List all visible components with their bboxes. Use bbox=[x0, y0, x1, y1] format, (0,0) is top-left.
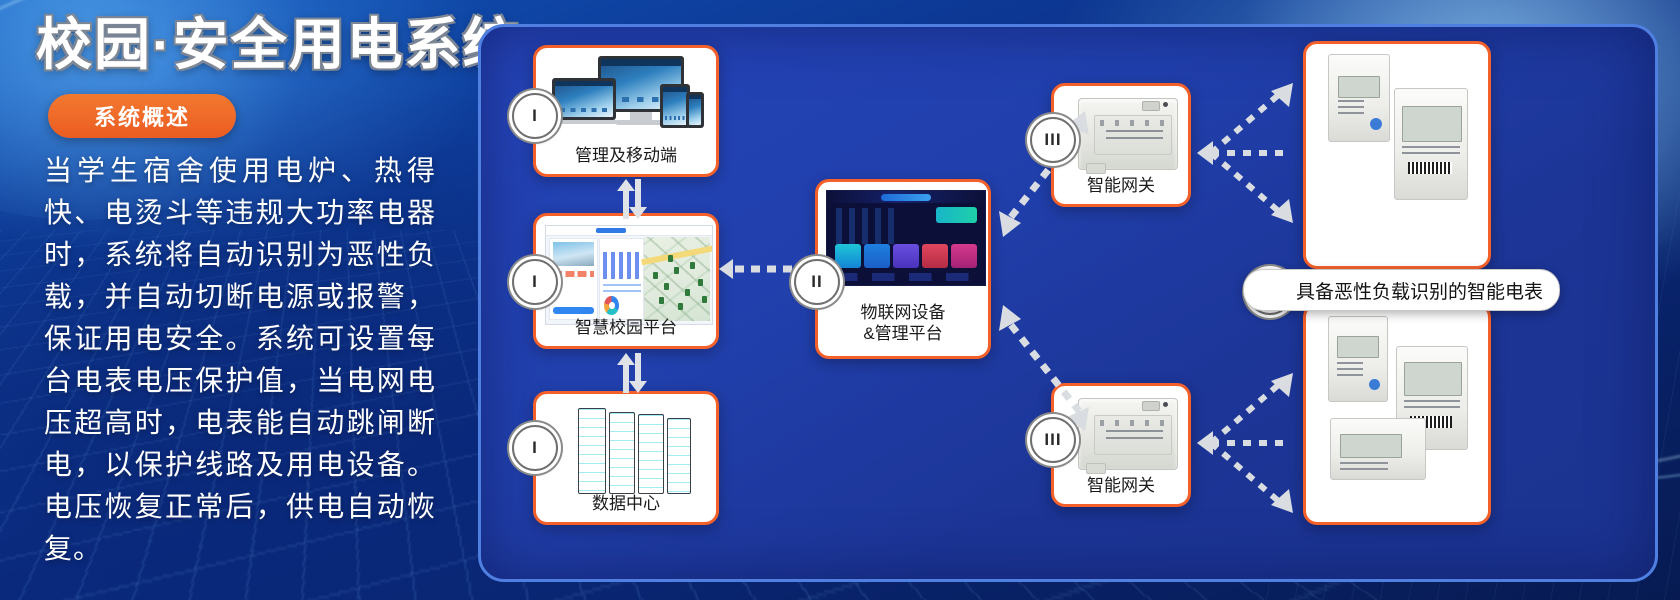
badge-roman-3: I bbox=[512, 425, 558, 471]
panel-meters-top[interactable] bbox=[1303, 41, 1491, 269]
arrow-campus-datacenter bbox=[615, 353, 649, 393]
poster-canvas: 校园·安全用电系统 系统概述 当学生宿舍使用电炉、热得快、电烫斗等违规大功率电器… bbox=[0, 0, 1680, 600]
iot-dashboard-icon bbox=[826, 190, 986, 286]
overview-paragraph: 当学生宿舍使用电炉、热得快、电烫斗等违规大功率电器时，系统将自动识别为恶性负载，… bbox=[44, 150, 436, 570]
arrow-gateway-bottom-meters bbox=[1197, 357, 1305, 527]
diagram-container: 管理及移动端 I bbox=[478, 24, 1658, 582]
server-rack-icon bbox=[578, 410, 691, 494]
dashboard-map-icon bbox=[545, 225, 713, 325]
meter-type-text: 具备恶性负载识别的智能电表 bbox=[1296, 277, 1543, 304]
node-label-line2: &管理平台 bbox=[818, 323, 988, 344]
arrow-mgmt-campus bbox=[615, 179, 649, 219]
badge-roman-4: II bbox=[794, 259, 840, 305]
badge-roman-1: I bbox=[512, 93, 558, 139]
monitor-devices-icon bbox=[550, 56, 708, 142]
badge-roman-2: I bbox=[512, 259, 558, 305]
meter-type-label[interactable]: 具备恶性负载识别的智能电表 bbox=[1243, 269, 1560, 311]
node-label-line1: 物联网设备 bbox=[818, 302, 988, 323]
arrow-iot-gateway-bottom bbox=[989, 305, 1101, 431]
left-panel: 校园·安全用电系统 系统概述 当学生宿舍使用电炉、热得快、电烫斗等违规大功率电器… bbox=[0, 0, 470, 600]
section-pill: 系统概述 bbox=[48, 94, 236, 138]
smart-meter-icon bbox=[1306, 306, 1488, 522]
badge-roman-5: III bbox=[1030, 117, 1076, 163]
badge-roman-6: III bbox=[1030, 417, 1076, 463]
node-iot-platform[interactable]: 物联网设备 &管理平台 bbox=[815, 179, 991, 359]
page-title: 校园·安全用电系统 bbox=[36, 14, 456, 77]
smart-meter-icon bbox=[1306, 44, 1488, 266]
node-label: 数据中心 bbox=[536, 493, 716, 514]
node-label: 智慧校园平台 bbox=[536, 317, 716, 338]
panel-meters-bottom[interactable] bbox=[1303, 303, 1491, 525]
node-mgmt-mobile[interactable]: 管理及移动端 bbox=[533, 45, 719, 177]
node-label: 智能网关 bbox=[1054, 475, 1188, 496]
node-label: 管理及移动端 bbox=[536, 145, 716, 166]
arrow-gateway-top-meters bbox=[1197, 67, 1305, 237]
node-data-center[interactable]: 数据中心 bbox=[533, 391, 719, 525]
node-campus-platform[interactable]: 智慧校园平台 bbox=[533, 213, 719, 349]
section-pill-label: 系统概述 bbox=[94, 100, 190, 132]
